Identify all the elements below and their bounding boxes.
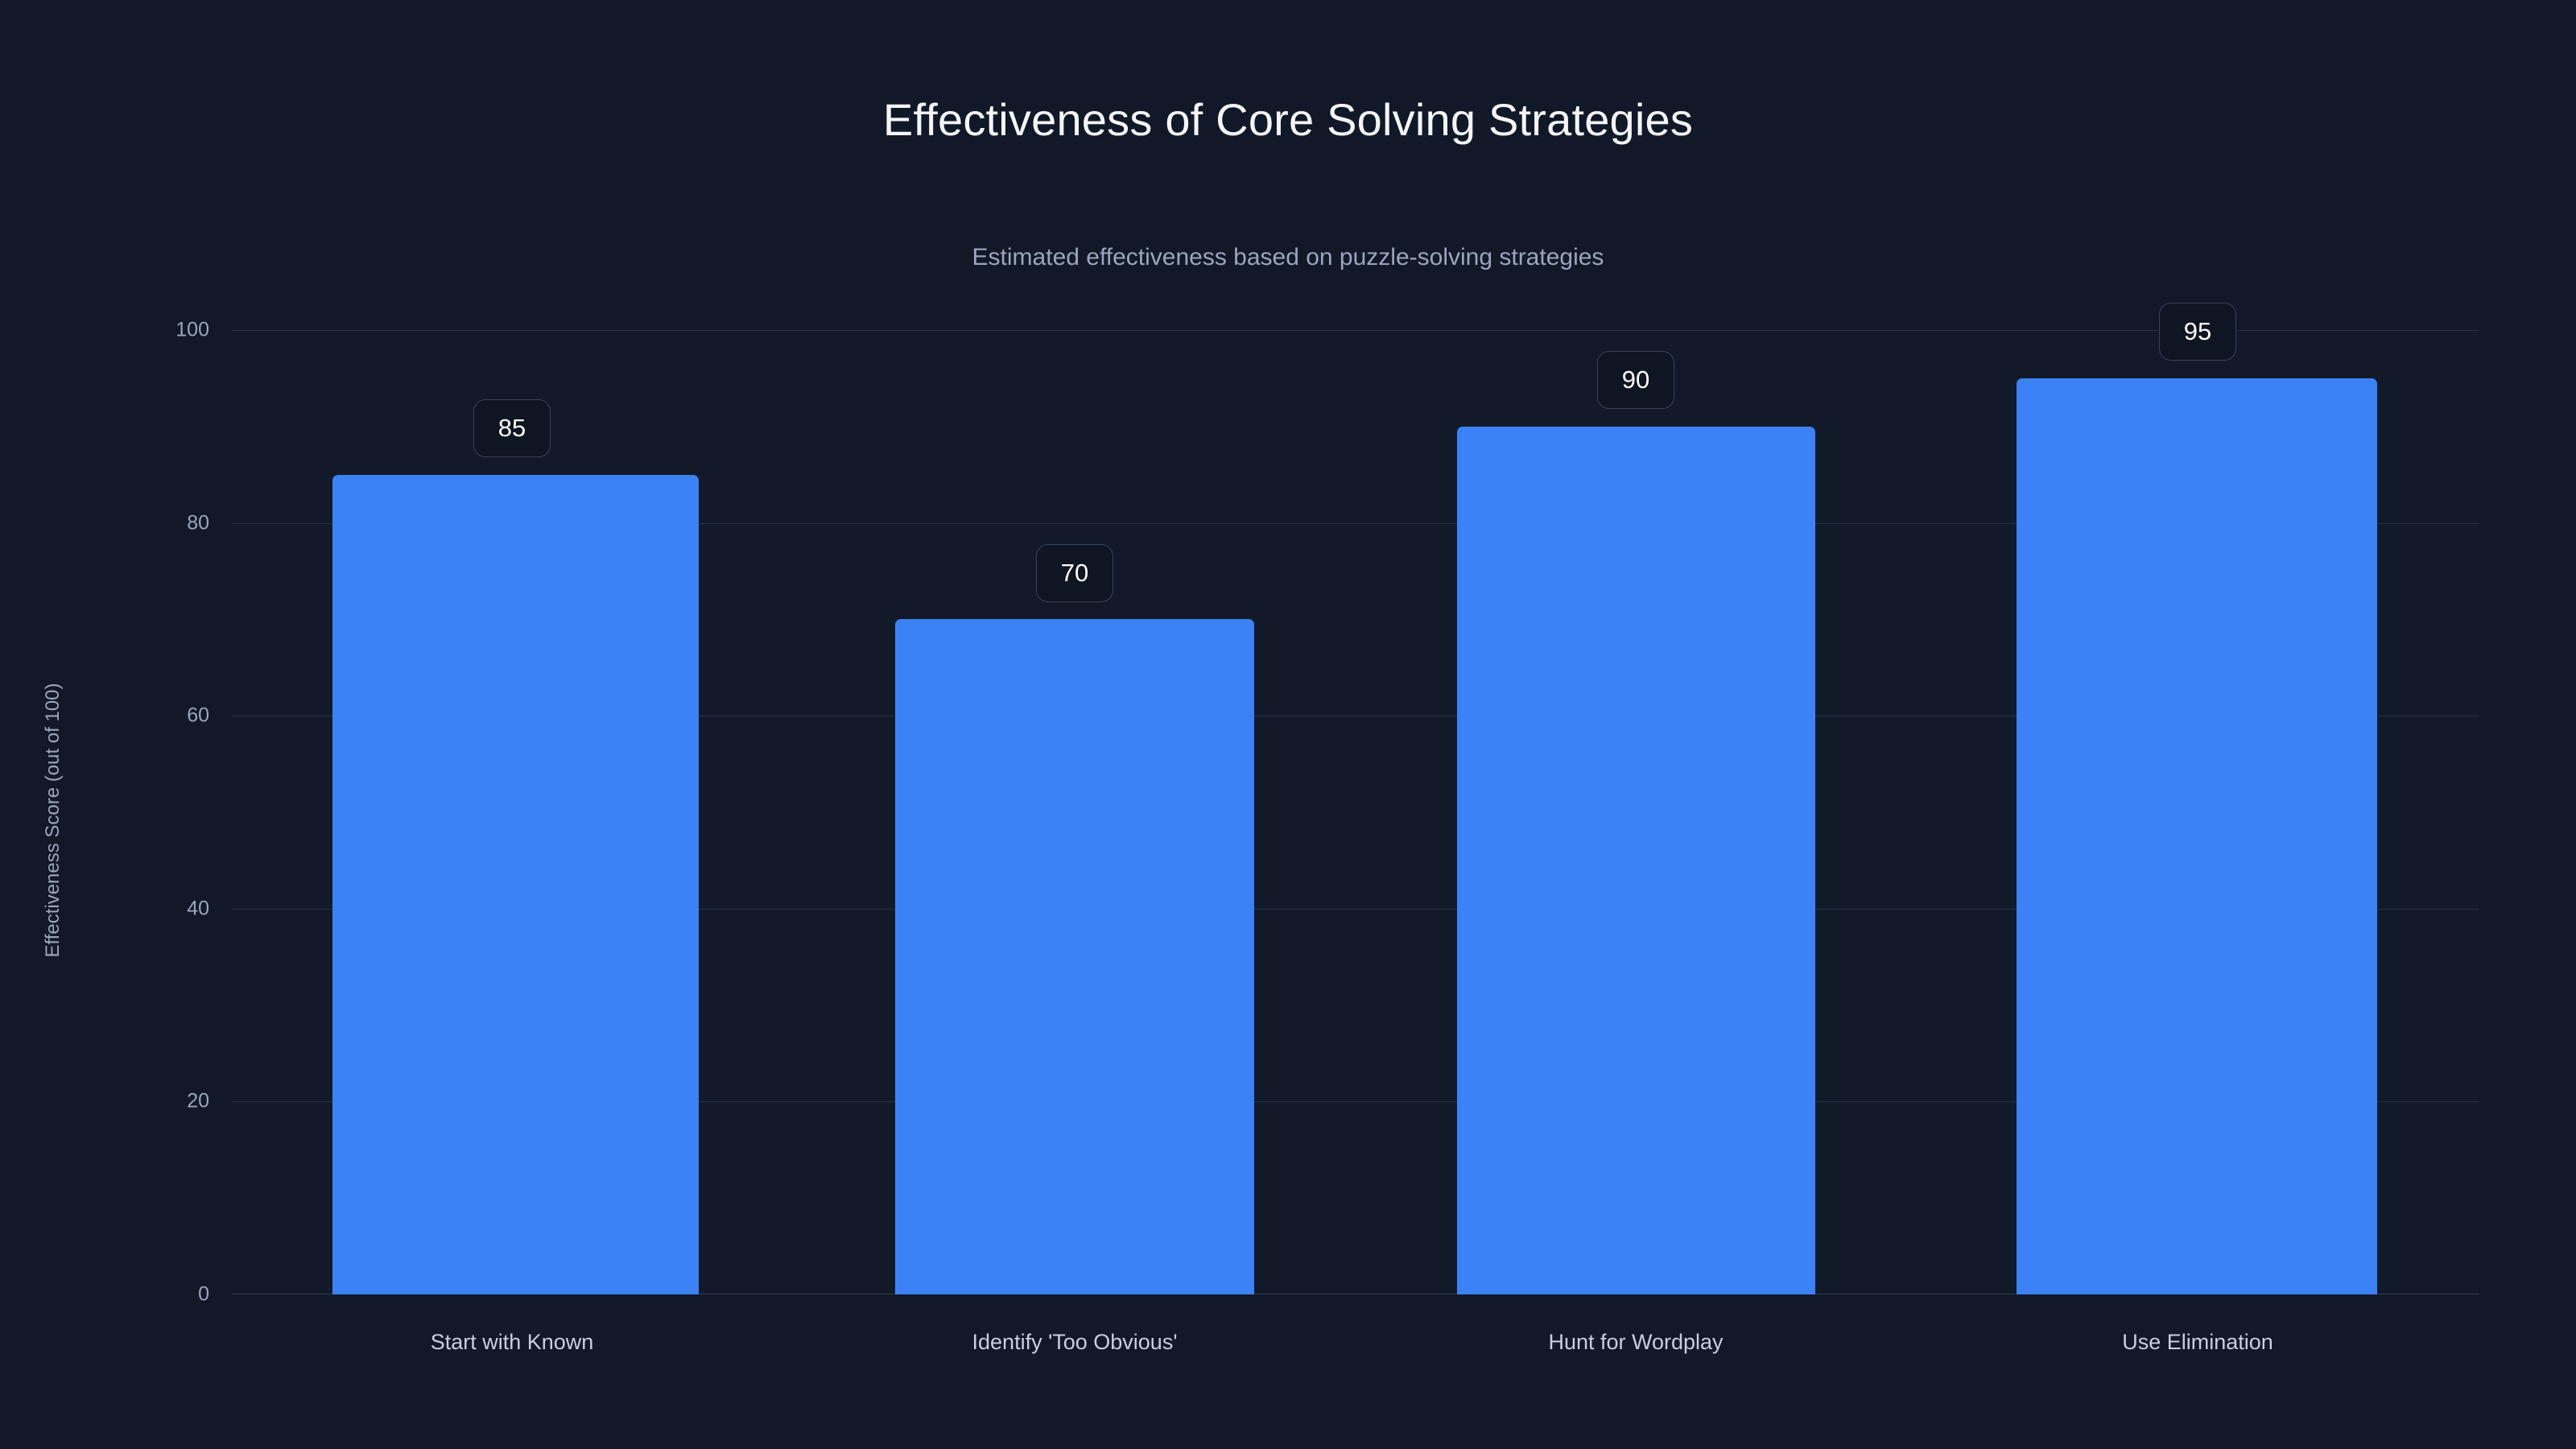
- y-tick-label-0: 0: [121, 1283, 209, 1307]
- gridline-100: [232, 330, 2479, 331]
- bar-use-elimination[interactable]: [2017, 378, 2377, 1294]
- y-tick-label-100: 100: [121, 319, 209, 342]
- y-axis-title: Effectiveness Score (out of 100): [42, 595, 64, 1046]
- bar-start-with-known[interactable]: [332, 475, 699, 1294]
- x-label-use-elimination: Use Elimination: [2122, 1330, 2273, 1355]
- y-tick-label-20: 20: [121, 1090, 209, 1113]
- value-badge-hunt-for-wordplay: 90: [1597, 351, 1674, 409]
- y-tick-label-80: 80: [121, 511, 209, 535]
- x-label-identify-too-obvious: Identify 'Too Obvious': [972, 1330, 1178, 1355]
- chart-subtitle: Estimated effectiveness based on puzzle-…: [0, 244, 2576, 271]
- bar-hunt-for-wordplay[interactable]: [1457, 427, 1815, 1294]
- plot-area: [232, 330, 2479, 1294]
- value-badge-start-with-known: 85: [473, 399, 551, 457]
- x-label-hunt-for-wordplay: Hunt for Wordplay: [1548, 1330, 1723, 1355]
- x-label-start-with-known: Start with Known: [431, 1330, 594, 1355]
- bar-chart-canvas: Effectiveness of Core Solving Strategies…: [0, 0, 2576, 1449]
- value-badge-identify-too-obvious: 70: [1036, 544, 1113, 602]
- chart-title: Effectiveness of Core Solving Strategies: [0, 93, 2576, 146]
- y-tick-label-40: 40: [121, 897, 209, 920]
- bar-identify-too-obvious[interactable]: [895, 619, 1254, 1294]
- value-badge-use-elimination: 95: [2159, 303, 2236, 361]
- y-tick-label-60: 60: [121, 704, 209, 728]
